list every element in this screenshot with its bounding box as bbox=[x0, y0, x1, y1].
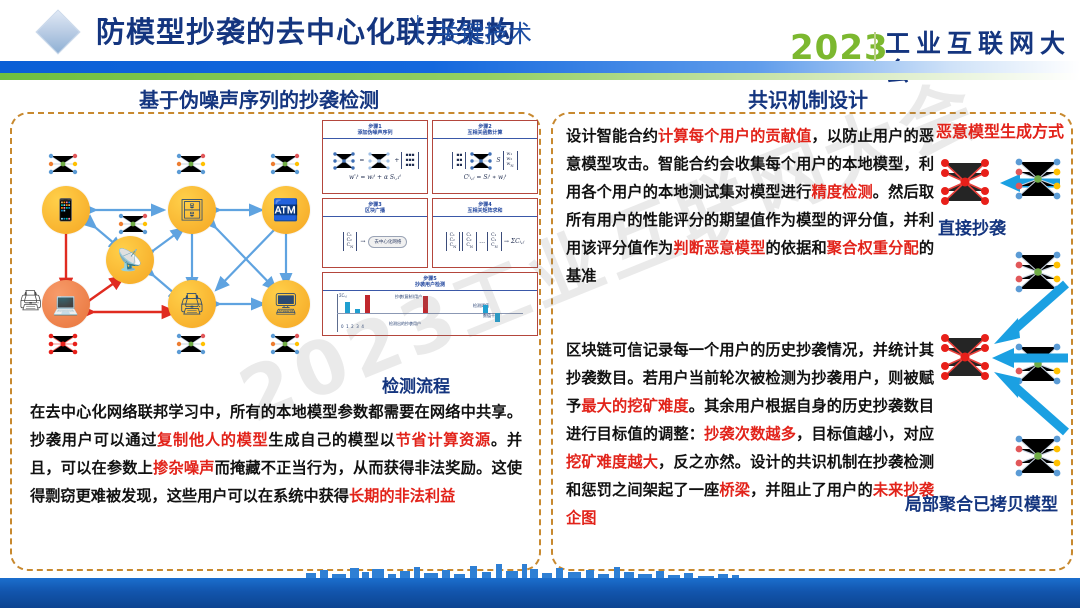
topology-node-mobile[interactable]: 📱 bbox=[42, 186, 90, 234]
title-separator: | bbox=[413, 10, 422, 43]
footer-water-band bbox=[0, 578, 1080, 608]
printer-icon: 🖨 bbox=[168, 280, 216, 328]
detection-steps-diagram: 步骤1 添加伪噪声序列 = bbox=[322, 120, 540, 305]
decentralized-network-cloud: 去中心化网络 bbox=[368, 236, 407, 248]
step-3-title: 区块广播 bbox=[365, 208, 385, 214]
header-rule-blue bbox=[0, 61, 1080, 73]
body-text: ，目标值越小，对应 bbox=[796, 425, 934, 443]
topology-node-atm[interactable]: 🏧 bbox=[262, 186, 310, 234]
step-box-3: 步骤3 区块广播 C₁C₂CN → 去中心化网络 bbox=[322, 198, 428, 268]
highlighted-text: 长期的非法利益 bbox=[349, 487, 455, 505]
step-4-body: C₁C₂CN C₁C₂CN … C₁C₂CN → ΣCᵢ,ⱼ bbox=[433, 217, 537, 266]
diamond-bullet-icon bbox=[35, 9, 80, 54]
mini-neural-net-icon bbox=[268, 152, 302, 176]
section-heading-right: 共识机制设计 bbox=[748, 84, 868, 113]
mobile-phone-icon: 📱 bbox=[42, 186, 90, 234]
step-3-body: C₁C₂CN → 去中心化网络 bbox=[323, 217, 427, 266]
atm-terminal-icon: 🏧 bbox=[262, 186, 310, 234]
slide-footer bbox=[0, 564, 1080, 608]
chart-bar bbox=[365, 295, 370, 313]
topology-node-desktop[interactable]: 🖥 bbox=[262, 280, 310, 328]
body-text: 的依据和 bbox=[765, 239, 826, 257]
step-4-matrix-note: ΣCᵢ,ⱼ bbox=[511, 238, 525, 245]
local-aggregate-label: 局部聚合已拷贝模型 bbox=[905, 490, 1058, 515]
topology-node-router[interactable]: 📡 bbox=[106, 236, 154, 284]
highlighted-text: 聚合权重分配 bbox=[827, 239, 919, 257]
aggregation-arrows-icon bbox=[986, 272, 1072, 452]
right-paragraph-1: 设计智能合约计算每个用户的贡献值，以防止用户的恶意模型攻击。智能合约会收集每个用… bbox=[566, 122, 934, 290]
network-topology-diagram: 📱 🗄 🏧 📡 💻 🖨 🖥 bbox=[24, 128, 324, 393]
body-text: 设计智能合约 bbox=[566, 127, 658, 145]
router-icon: 📡 bbox=[106, 236, 154, 284]
highlighted-text: 判断恶意模型 bbox=[673, 239, 765, 257]
left-paragraph: 在去中心化网络联邦学习中，所有的本地模型参数都需要在网络中共享。抄袭用户可以通过… bbox=[30, 398, 522, 510]
highlighted-text: 桥梁 bbox=[719, 481, 750, 499]
highlighted-text: 复制他人的模型 bbox=[157, 431, 268, 449]
step-box-1: 步骤1 添加伪噪声序列 = bbox=[322, 120, 428, 194]
direct-copy-label: 直接抄袭 bbox=[938, 214, 1006, 239]
desktop-pc-icon: 🖥 bbox=[262, 280, 310, 328]
topology-node-attacker[interactable]: 💻 bbox=[42, 280, 90, 328]
slide-header: 防模型抄袭的去中心化联邦架构 | 关键技术 2023 中国·苏州 · 9月11日… bbox=[0, 0, 1080, 60]
step-1-body: = + ▪▪▪▪▪▪▪▪▪ w'ᵢᵗ = wᵢᵗ + α Sᵢ,₁ᵗ bbox=[323, 139, 427, 192]
block-matrix: C₁C₂CN bbox=[343, 232, 358, 251]
step-2-body: ▪▪▪▪▪▪ S w₁w₂wN Cᵗᵢ,ⱼ = Sᵢᵗ ∗ wⱼᵗ bbox=[433, 139, 537, 192]
header-rule-green bbox=[0, 73, 1080, 80]
malicious-model-label: 恶意模型生成方式 bbox=[936, 118, 1064, 142]
step-3-header: 步骤3 区块广播 bbox=[323, 199, 427, 217]
server-rack-icon: 🗄 bbox=[168, 186, 216, 234]
mini-neural-net-icon bbox=[268, 332, 302, 356]
highlighted-text: 掺杂噪声 bbox=[153, 459, 215, 477]
slide-root: 防模型抄袭的去中心化联邦架构 | 关键技术 2023 中国·苏州 · 9月11日… bbox=[0, 0, 1080, 608]
mini-neural-net-icon bbox=[46, 152, 80, 176]
topology-node-server[interactable]: 🗄 bbox=[168, 186, 216, 234]
chart-bar bbox=[345, 302, 350, 313]
highlighted-text: 节省计算资源 bbox=[396, 431, 491, 449]
source-neural-net-icon bbox=[1010, 155, 1066, 203]
step-2-formula: Cᵗᵢ,ⱼ = Sᵢᵗ ∗ wⱼᵗ bbox=[464, 174, 507, 181]
neural-net-icon bbox=[468, 151, 494, 171]
mini-neural-net-icon bbox=[174, 332, 208, 356]
topology-node-printer[interactable]: 🖨 bbox=[168, 280, 216, 328]
highlighted-text: 计算每个用户的贡献值 bbox=[658, 127, 811, 145]
highlighted-text: 最大的挖矿难度 bbox=[581, 397, 688, 415]
highlighted-text: 挖矿难度越大 bbox=[566, 453, 658, 471]
chart-bottom-label: 检测出的抄袭用户 bbox=[389, 321, 421, 327]
page-subtitle: 关键技术 bbox=[436, 14, 532, 49]
detection-bar-chart: ΣCᵢ,ⱼ 抄袭(复制)用户 检测出的抄袭用户 检测阈值 数值十字 0 1 2 … bbox=[323, 291, 537, 334]
neural-net-icon bbox=[331, 151, 357, 171]
highlighted-text: 精度检测 bbox=[811, 183, 872, 201]
mini-neural-net-malicious-icon bbox=[46, 332, 80, 356]
step-2-title: 互相关函数计算 bbox=[467, 130, 502, 136]
chart-top-label: 抄袭(复制)用户 bbox=[395, 294, 422, 300]
right-paragraph-2: 区块链可信记录每一个用户的历史抄袭情况，并统计其抄袭数目。若用户当前轮次被检测为… bbox=[566, 336, 934, 532]
step-4-header: 步骤4 互相关矩阵求和 bbox=[433, 199, 537, 217]
chart-y-label: ΣCᵢ,ⱼ bbox=[339, 293, 347, 298]
seq-matrix: ▪▪▪▪▪▪ bbox=[452, 152, 466, 169]
body-text: ，并阻止了用户的 bbox=[750, 481, 873, 499]
chart-bar bbox=[483, 305, 488, 313]
section-heading-left: 基于伪噪声序列的抄袭检测 bbox=[139, 84, 379, 113]
detection-flow-caption: 检测流程 bbox=[382, 372, 450, 397]
corr-matrix: w₁w₂wN bbox=[503, 151, 518, 170]
step-box-5: 步骤5 抄袭用户检测 ΣCᵢ,ⱼ 抄袭(复制)用户 检测出的抄袭用户 检测阈值 … bbox=[322, 272, 538, 336]
mini-neural-net-icon bbox=[116, 212, 150, 236]
step-1-header: 步骤1 添加伪噪声序列 bbox=[323, 121, 427, 139]
step-box-4: 步骤4 互相关矩阵求和 C₁C₂CN C₁C₂CN … C₁C₂CN → ΣCᵢ… bbox=[432, 198, 538, 268]
step-1-title: 添加伪噪声序列 bbox=[357, 130, 392, 136]
step-1-formula: w'ᵢᵗ = wᵢᵗ + α Sᵢ,₁ᵗ bbox=[349, 174, 401, 181]
mini-neural-net-icon bbox=[174, 152, 208, 176]
step-5-title: 抄袭用户检测 bbox=[415, 282, 445, 288]
step-box-2: 步骤2 互相关函数计算 ▪▪▪▪▪▪ S w₁w₂wN Cᵗᵢ,ⱼ = Sᵢᵗ … bbox=[432, 120, 538, 194]
step-5-body: ΣCᵢ,ⱼ 抄袭(复制)用户 检测出的抄袭用户 检测阈值 数值十字 0 1 2 … bbox=[323, 291, 537, 334]
step-4-title: 互相关矩阵求和 bbox=[467, 208, 502, 214]
step-2-header: 步骤2 互相关函数计算 bbox=[433, 121, 537, 139]
step-5-header: 步骤5 抄袭用户检测 bbox=[323, 273, 537, 291]
external-printer-icon: 🖨 bbox=[18, 288, 43, 312]
chart-bar bbox=[355, 309, 360, 313]
noise-matrix: ▪▪▪▪▪▪▪▪▪ bbox=[401, 152, 418, 169]
highlighted-text: 抄袭次数越多 bbox=[704, 425, 796, 443]
chart-bar bbox=[495, 313, 500, 322]
body-text: 生成自己的模型以 bbox=[268, 431, 395, 449]
malicious-neural-net-icon bbox=[936, 155, 994, 209]
laptop-attacker-icon: 💻 bbox=[42, 280, 90, 328]
chart-bar bbox=[423, 296, 428, 313]
neural-net-icon bbox=[366, 151, 392, 171]
